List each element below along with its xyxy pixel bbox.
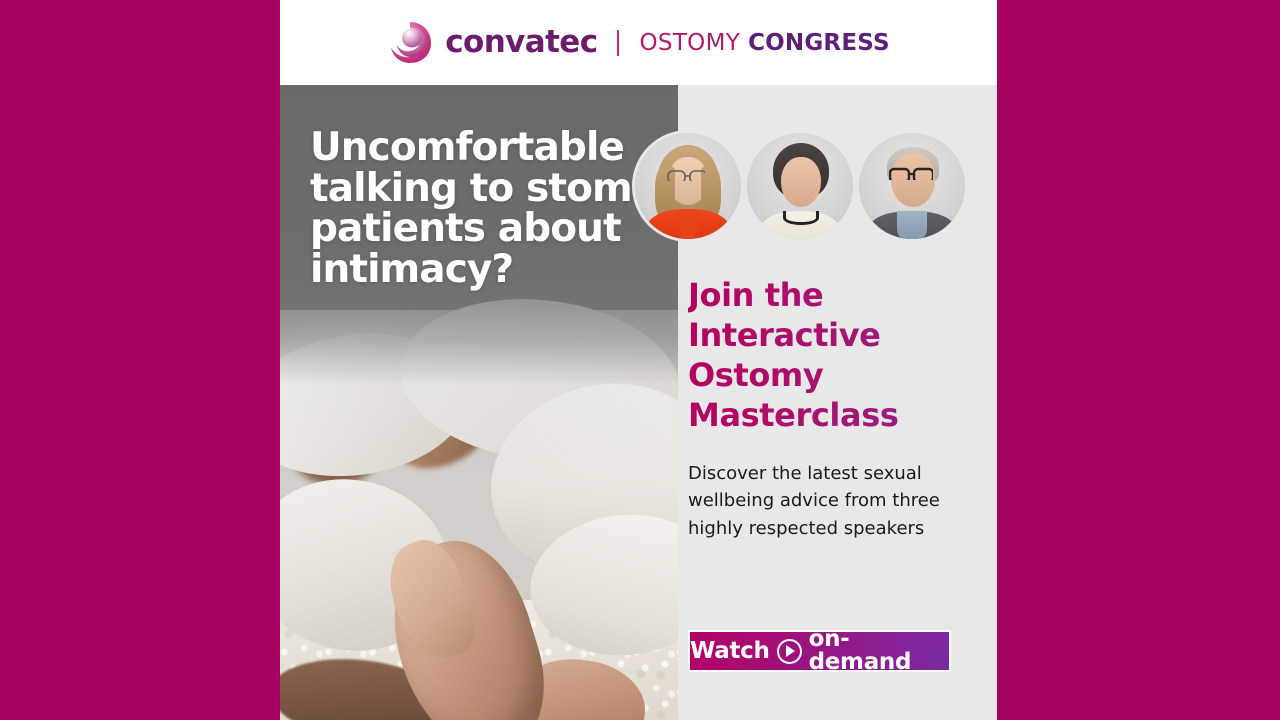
play-icon	[777, 639, 802, 664]
avatar	[747, 133, 853, 239]
creative-panel: convatec OSTOMY CONGRESS	[280, 0, 997, 720]
hero-photo: Uncomfortable talking to stoma patients …	[280, 85, 678, 720]
congress-lockup: OSTOMY CONGRESS	[640, 30, 890, 56]
congress-label: CONGRESS	[748, 30, 890, 56]
watch-on-demand-button[interactable]: Watch on-demand	[688, 630, 951, 672]
panel-heading: Join the Interactive Ostomy Masterclass	[688, 275, 988, 435]
cta-label-before: Watch	[690, 640, 770, 663]
logo-lockup: convatec OSTOMY CONGRESS	[387, 19, 890, 66]
advertisement-banner: convatec OSTOMY CONGRESS	[0, 0, 1280, 720]
hero-headline: Uncomfortable talking to stoma patients …	[310, 128, 660, 290]
avatar	[859, 133, 965, 239]
brand-header: convatec OSTOMY CONGRESS	[280, 0, 997, 85]
convatec-swirl-logo-icon	[387, 19, 434, 66]
eyeglasses-icon	[889, 167, 933, 180]
info-panel: Join the Interactive Ostomy Masterclass …	[678, 85, 997, 720]
speaker-avatars	[635, 133, 965, 243]
avatar-scarf	[679, 219, 697, 239]
avatar-face	[891, 153, 935, 207]
avatar-shirt	[897, 211, 927, 239]
ostomy-label: OSTOMY	[640, 30, 741, 56]
avatar	[635, 133, 741, 239]
header-divider	[617, 30, 619, 56]
eyeglasses-icon	[667, 169, 705, 181]
brand-wordmark: convatec	[445, 27, 597, 58]
cta-label-after: on-demand	[809, 628, 949, 674]
panel-subcopy: Discover the latest sexual wellbeing adv…	[688, 460, 978, 542]
avatar-collar-trim	[783, 211, 819, 225]
avatar-face	[781, 157, 821, 207]
